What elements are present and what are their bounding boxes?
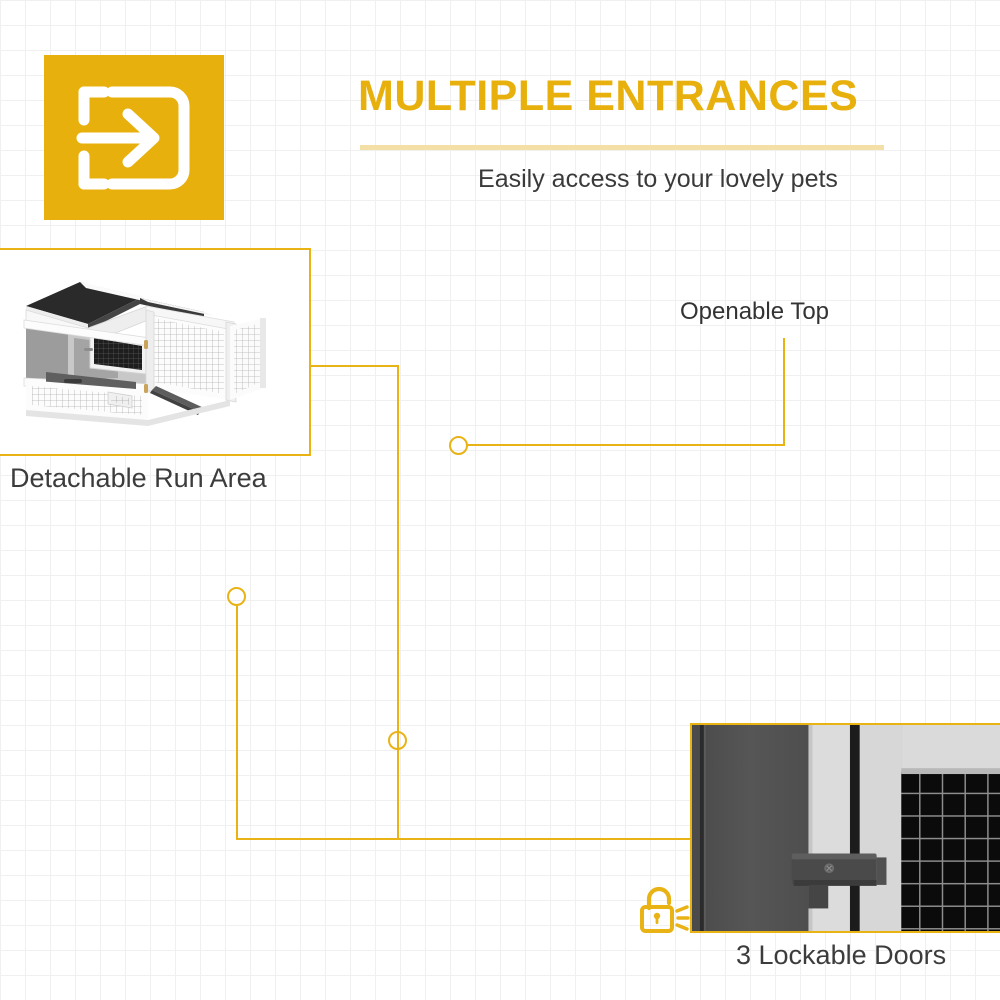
inset-detachable-run-area xyxy=(0,248,311,456)
connector-run-area-vertical xyxy=(397,365,399,840)
connector-run-area-horizontal xyxy=(311,365,399,367)
inset-lockable-doors-image xyxy=(692,725,1000,931)
title-divider xyxy=(360,145,884,150)
enter-arrow-icon xyxy=(74,82,194,194)
inset-run-area-caption: Detachable Run Area xyxy=(10,463,267,494)
page-subtitle: Easily access to your lovely pets xyxy=(358,165,958,194)
connector-door-left-vertical xyxy=(236,606,238,840)
page-title: MULTIPLE ENTRANCES xyxy=(358,72,958,121)
circle-marker-openable-top xyxy=(449,436,468,455)
inset-run-area-image xyxy=(8,268,276,448)
inset-lockable-doors xyxy=(690,723,1000,933)
circle-marker-door-left xyxy=(227,587,246,606)
feature-badge xyxy=(44,55,224,220)
unlocked-padlock-icon xyxy=(638,882,690,938)
connector-openable-top-horizontal xyxy=(467,444,785,446)
inset-lockable-doors-caption: 3 Lockable Doors xyxy=(736,940,946,971)
callout-openable-top-label: Openable Top xyxy=(680,298,829,326)
connector-openable-top-vertical xyxy=(783,338,785,445)
connector-lockable-doors-horizontal xyxy=(236,838,692,840)
circle-marker-door-middle xyxy=(388,731,407,750)
